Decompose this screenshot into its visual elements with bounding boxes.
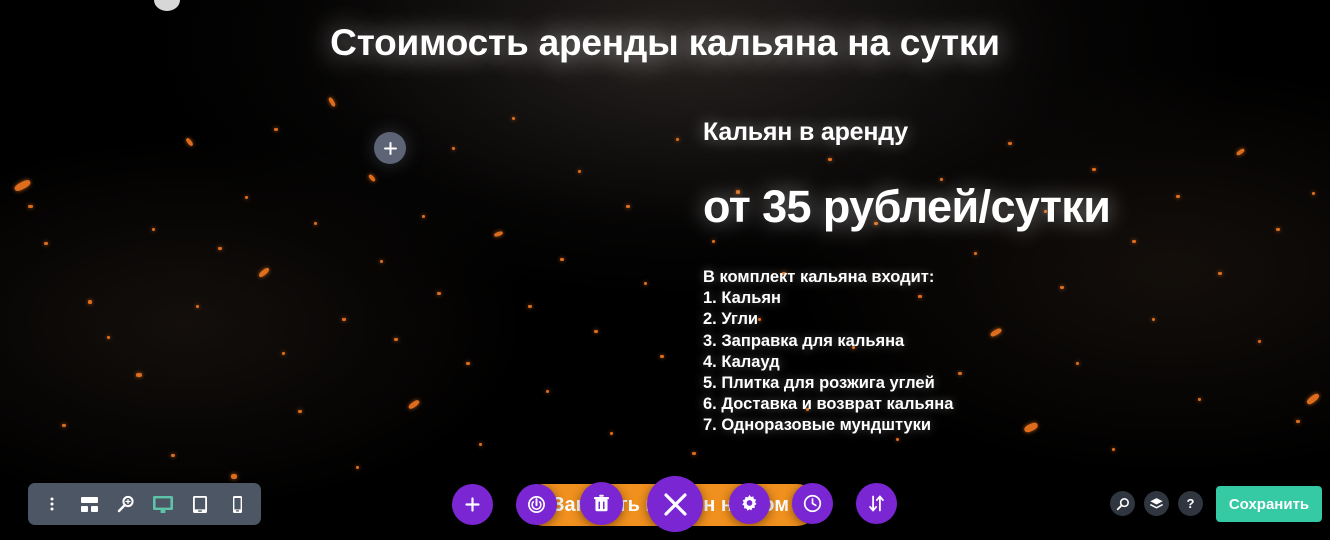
page-title: Стоимость аренды кальяна на сутки <box>0 22 1330 64</box>
block-add-button[interactable] <box>452 484 493 525</box>
more-vertical-icon <box>44 496 60 512</box>
promo-price: от 35 рублей/сутки <box>703 181 1110 233</box>
right-controls: ? <box>1110 491 1203 516</box>
block-delete-button[interactable] <box>580 482 623 525</box>
blocks-layout-button[interactable] <box>73 488 105 520</box>
layers-icon <box>1149 497 1164 511</box>
close-block-icon <box>663 492 688 517</box>
add-block-button[interactable] <box>374 132 406 164</box>
delete-block-icon <box>593 494 610 513</box>
promo-list: В комплект кальяна входит: 1. Кальян 2. … <box>703 267 1110 437</box>
save-button[interactable]: Сохранить <box>1216 486 1322 522</box>
search-icon <box>1116 497 1130 511</box>
mobile-icon <box>232 495 243 514</box>
device-desktop-button[interactable] <box>147 488 179 520</box>
move-block-icon <box>868 494 885 513</box>
block-history-button[interactable] <box>792 483 833 524</box>
add-block-icon <box>465 497 480 512</box>
search-button[interactable] <box>1110 491 1135 516</box>
list-item: 2. Угли <box>703 309 1110 330</box>
zoom-button[interactable] <box>110 488 142 520</box>
device-mobile-button[interactable] <box>221 488 253 520</box>
history-clock-icon <box>803 494 822 513</box>
block-settings-button[interactable] <box>729 483 770 524</box>
promo-list-heading: В комплект кальяна входит: <box>703 267 1110 288</box>
device-tablet-button[interactable] <box>184 488 216 520</box>
power-toggle-icon <box>527 495 546 514</box>
tablet-icon <box>192 495 208 514</box>
list-item: 7. Одноразовые мундштуки <box>703 415 1110 436</box>
promo-block: Кальян в аренду от 35 рублей/сутки В ком… <box>703 118 1110 437</box>
background-glow <box>0 0 1330 540</box>
block-reorder-button[interactable] <box>856 483 897 524</box>
ember-particles <box>0 0 1330 540</box>
block-close-button[interactable] <box>647 476 703 532</box>
cut-off-top-element <box>154 0 180 11</box>
list-item: 6. Доставка и возврат кальяна <box>703 394 1110 415</box>
viewport-toolbar <box>28 483 261 525</box>
list-item: 4. Калауд <box>703 352 1110 373</box>
desktop-icon <box>152 495 174 514</box>
help-button[interactable]: ? <box>1178 491 1203 516</box>
list-item: 5. Плитка для розжига углей <box>703 373 1110 394</box>
block-power-button[interactable] <box>516 484 557 525</box>
zoom-in-icon <box>117 495 135 513</box>
layout-grid-icon <box>80 496 99 513</box>
settings-gear-icon <box>740 494 759 513</box>
layers-button[interactable] <box>1144 491 1169 516</box>
list-item: 3. Заправка для кальяна <box>703 331 1110 352</box>
plus-icon <box>384 142 397 155</box>
more-options-button[interactable] <box>36 488 68 520</box>
list-item: 1. Кальян <box>703 288 1110 309</box>
editor-canvas: Стоимость аренды кальяна на сутки Кальян… <box>0 0 1330 540</box>
promo-kicker: Кальян в аренду <box>703 118 1110 147</box>
